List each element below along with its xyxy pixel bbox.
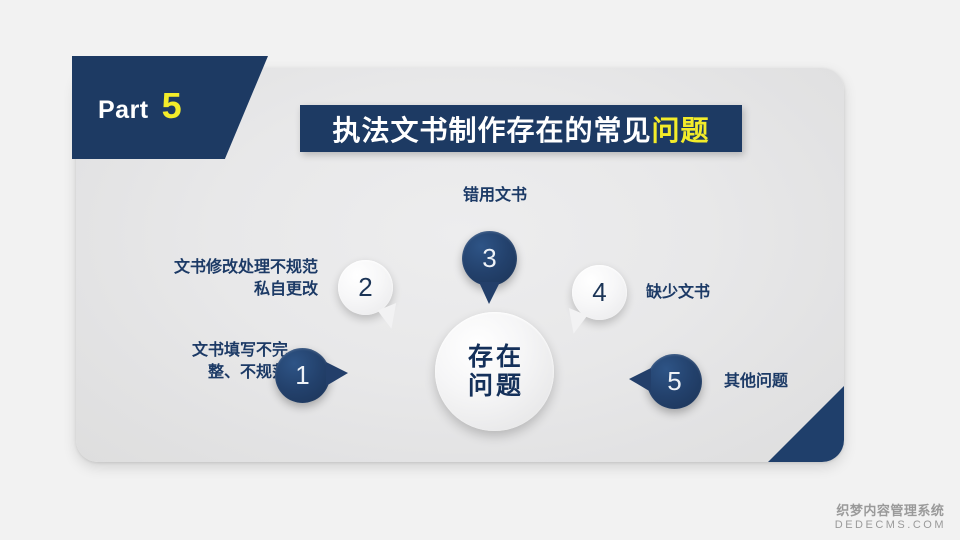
bubble-tail-left-icon [629,368,651,392]
bubble-tail-down-right-icon [378,303,405,331]
slide-root: 错用文书 3 文书修改处理不规范 私自更改 2 4 缺少文书 文书填写不完 整、… [0,0,960,540]
node-bubble-2[interactable]: 2 [338,260,393,315]
watermark-cn: 织梦内容管理系统 [835,504,946,519]
watermark-en: DEDECMS.COM [835,519,946,532]
part-number: 5 [162,88,182,124]
page-title-main: 执法文书制作存在的常见 [332,115,651,146]
node-number-5: 5 [667,366,681,397]
node-label-2: 文书修改处理不规范 私自更改 [138,257,318,302]
part-banner-content: Part 5 [98,88,182,125]
slide-title-bar: 执法文书制作存在的常见问题 [300,105,742,152]
node-number-4: 4 [592,277,606,308]
watermark: 织梦内容管理系统 DEDECMS.COM [835,504,946,532]
node-bubble-5[interactable]: 5 [647,354,702,409]
node-bubble-1[interactable]: 1 [275,348,330,403]
node-bubble-4[interactable]: 4 [572,265,627,320]
node-label-1: 文书填写不完 整、不规范 [128,340,288,385]
page-title: 执法文书制作存在的常见问题 [332,109,709,149]
bubble-tail-down-icon [479,282,500,304]
node-number-3: 3 [482,243,496,274]
center-line-1: 存在 [465,343,524,372]
center-line-2: 问题 [465,372,524,401]
node-bubble-3[interactable]: 3 [462,231,517,286]
part-label: Part [98,96,149,125]
node-number-1: 1 [295,360,309,391]
center-circle[interactable]: 存在 问题 [435,312,554,431]
node-number-2: 2 [358,272,372,303]
bubble-tail-down-left-icon [561,308,588,336]
bubble-tail-right-icon [326,362,348,386]
node-label-5: 其他问题 [724,371,844,393]
node-label-4: 缺少文书 [646,282,776,304]
node-label-3: 错用文书 [447,185,543,207]
corner-triangle-decoration [768,386,844,462]
page-title-highlight: 问题 [652,115,710,146]
